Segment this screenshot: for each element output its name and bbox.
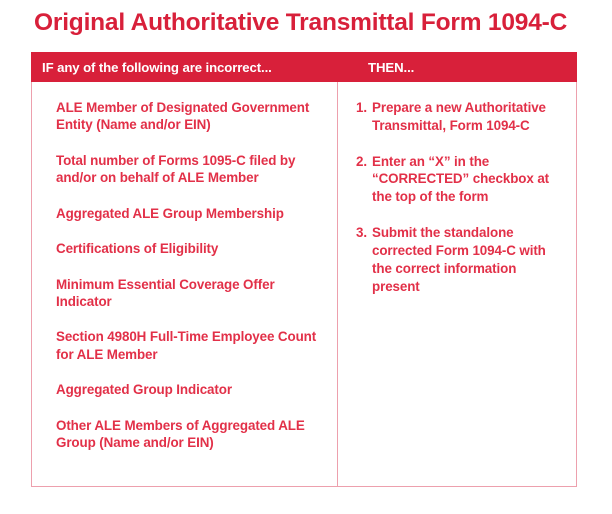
correction-table: IF any of the following are incorrect...… [31,52,577,487]
list-item: Certifications of Eligibility [56,240,327,257]
list-item: Aggregated Group Indicator [56,381,327,398]
column-header-then: THEN... [337,60,414,75]
list-item: Minimum Essential Coverage Offer Indicat… [56,276,327,311]
document-page: Original Authoritative Transmittal Form … [0,0,612,514]
step-number: 2. [356,153,372,206]
step-text: Prepare a new Authoritative Transmittal,… [372,99,564,135]
table-header-row: IF any of the following are incorrect...… [31,52,577,82]
page-title: Original Authoritative Transmittal Form … [34,9,594,37]
list-item: Total number of Forms 1095-C filed by an… [56,152,327,187]
step-text: Enter an “X” in the “CORRECTED” checkbox… [372,153,564,206]
list-item: 3. Submit the standalone corrected Form … [356,224,564,295]
list-item: Other ALE Members of Aggregated ALE Grou… [56,417,327,452]
step-number: 1. [356,99,372,135]
list-item: ALE Member of Designated Government Enti… [56,99,327,134]
list-item: Section 4980H Full-Time Employee Count f… [56,328,327,363]
step-text: Submit the standalone corrected Form 109… [372,224,564,295]
table-body: ALE Member of Designated Government Enti… [31,82,577,487]
column-if-incorrect: ALE Member of Designated Government Enti… [32,82,338,486]
list-item: 2. Enter an “X” in the “CORRECTED” check… [356,153,564,206]
list-item: Aggregated ALE Group Membership [56,205,327,222]
column-header-if: IF any of the following are incorrect... [31,60,337,75]
list-item: 1. Prepare a new Authoritative Transmitt… [356,99,564,135]
step-number: 3. [356,224,372,295]
column-then-actions: 1. Prepare a new Authoritative Transmitt… [338,82,576,486]
